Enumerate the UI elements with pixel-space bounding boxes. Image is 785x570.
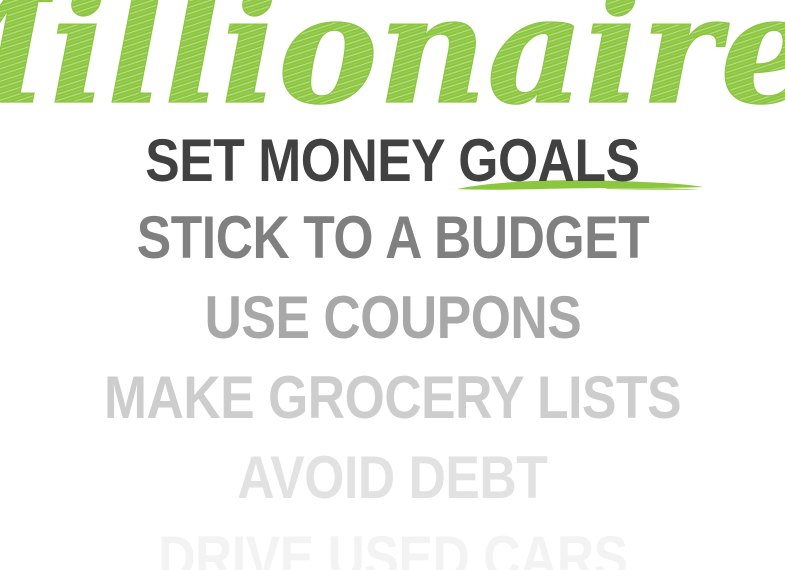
poster-canvas: Millionaires SET MONEY GOALS STICK TO A … — [0, 0, 785, 570]
goal-line-make-grocery-lists: MAKE GROCERY LISTS — [0, 368, 785, 428]
goal-line-text: AVOID DEBT — [237, 448, 547, 508]
goal-line-text: STICK TO A BUDGET — [136, 208, 649, 268]
goal-line-avoid-debt: AVOID DEBT — [0, 448, 785, 508]
goal-line-stick-to-a-budget: STICK TO A BUDGET — [0, 208, 785, 268]
goal-line-text: USE COUPONS — [204, 288, 581, 348]
goal-line-drive-used-cars: DRIVE USED CARS — [0, 528, 785, 570]
goal-line-text: SET MONEY GOALS — [145, 131, 639, 191]
goal-line-set-money-goals: SET MONEY GOALS — [0, 131, 785, 191]
headline-text: Millionaires — [0, 0, 785, 138]
goal-line-text: MAKE GROCERY LISTS — [104, 368, 681, 428]
goal-line-use-coupons: USE COUPONS — [0, 288, 785, 348]
goal-line-text: DRIVE USED CARS — [158, 528, 627, 570]
